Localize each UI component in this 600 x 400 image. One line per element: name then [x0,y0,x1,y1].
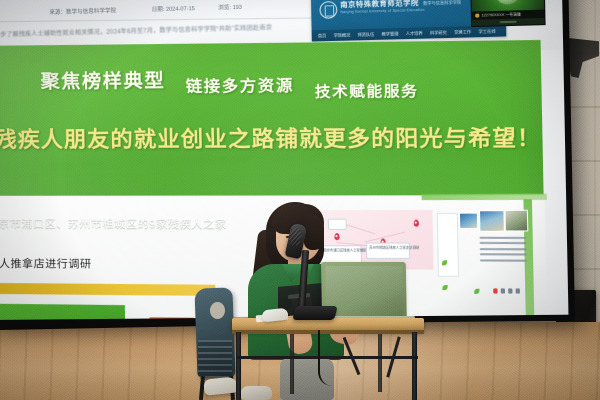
decor-yellow-bar [0,283,216,296]
hair-side-sweep [304,214,324,250]
site-nav-item-4[interactable]: 人才培养 [406,30,423,37]
site-nav-item-3[interactable]: 教学管理 [382,31,399,38]
slide-icon-row [493,288,520,293]
site-nav-item-1[interactable]: 学院概况 [334,32,351,39]
site-nav-item-6[interactable]: 党建工作 [454,29,471,36]
summary-line-1 [480,242,527,244]
desk-leg-back-right [378,334,382,392]
article-date: 日期: 2024-07-15 [152,4,195,13]
site-nav-item-2[interactable]: 师资队伍 [358,31,375,38]
video-call-toolbar[interactable] [472,18,544,26]
university-crest-icon [319,1,337,19]
share-icon [508,288,512,293]
slide-subhead: 为残疾人朋友的就业创业之路铺就更多的阳光与希望！ [0,120,568,154]
summary-line-0 [479,237,526,239]
map-pin-2 [414,220,419,227]
chair-handle-hole [210,302,225,319]
slide-headline-1: 链接多方资源 [186,72,295,97]
slide-headline-2: 技术赋能服务 [315,80,419,102]
desk-leg-front-left [236,332,241,400]
map-callout-1: 苏州市相城区残疾人之家走访调研 [366,242,410,258]
photo-scene: 共助实践团开展社会实践 来源：数学与信息科学学院 日期: 2024-07-15 … [0,0,600,400]
university-unit: 数学与信息科学学院 [423,0,461,7]
slide-summary-list [479,237,526,265]
frame-icon [516,288,520,293]
slide-body-line-2: 及盲人推拿店进行调研 [0,255,92,272]
participant-avatar [495,0,521,5]
record-icon [493,288,497,293]
microphone-icon [475,13,479,17]
shoe-right [240,386,272,400]
chair-slats [198,340,232,380]
slide-photo-2 [504,210,528,232]
microphone-base [292,306,337,320]
slide-headline-row: 聚焦榜样典型 链接多方资源 技术赋能服务 [40,63,527,95]
slide-body-line-1: 赴南京市浦口区、苏州市相城区的9家残疾人之家 [0,215,227,232]
slide-photo-0 [459,213,478,229]
link-icon [501,288,505,293]
decor-green-block [0,304,126,320]
article-views: 浏览: 193 [218,3,242,12]
slide-photo-1 [479,210,505,232]
site-nav-item-7[interactable]: 学工在线 [479,28,496,35]
site-nav-item-5[interactable]: 科学研究 [430,29,447,36]
slide-headline-0: 聚焦榜样典型 [40,66,165,94]
summary-line-2 [480,248,527,250]
desk-leg-back-left [290,334,294,394]
power-cable [318,330,334,386]
video-call-panel[interactable]: 122790XXXX 一号演播 [470,0,545,27]
desk-leg-front-right [412,332,417,400]
decor-orange-shape [144,317,194,320]
summary-line-3 [480,253,527,255]
slide-side-panel [437,213,459,277]
site-nav-item-0[interactable]: 首页 [318,32,326,38]
summary-line-4 [480,259,527,261]
participant-label: 122790XXXX 一号演播 [481,12,520,18]
